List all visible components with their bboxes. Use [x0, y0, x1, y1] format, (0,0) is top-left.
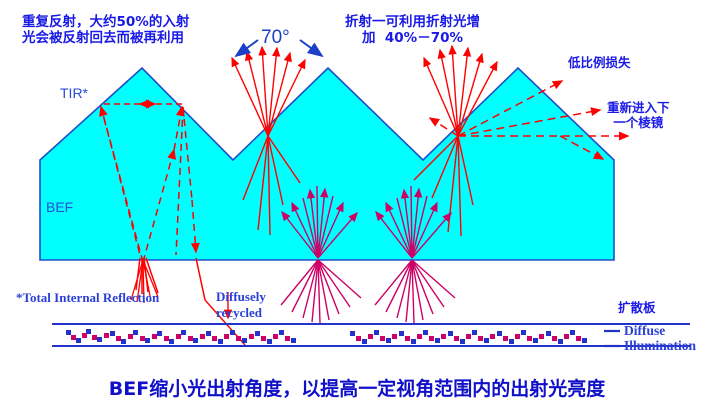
diffuser-plate [52, 324, 690, 346]
angle-label: 70° [261, 26, 290, 49]
diffuser-plate-cn-label: 扩散板 [618, 300, 656, 315]
diffuser-particles [66, 329, 587, 344]
diffusely-recycled-label: Diffusely recycled [216, 289, 266, 321]
diffuse-label: Diffuse [624, 323, 665, 339]
tir-footnote-label: *Total Internal Reflection [16, 290, 159, 306]
bef-prism-film [40, 68, 614, 260]
low-loss-label: 低比例损失 [568, 55, 631, 70]
reenter-prism-label: 重新进入下 一个棱镜 [607, 100, 670, 131]
figure-caption: BEF缩小光出射角度，以提高一定视角范围内的出射光亮度 [0, 374, 714, 401]
refraction-note-label: 折射一可利用折射光增 加 40%－70% [345, 14, 480, 47]
bef-label: BEF [46, 199, 73, 216]
recycle-note-label: 重复反射，大约50%的入射 光会被反射回去而被再利用 [22, 14, 189, 47]
tir-label: TIR* [60, 85, 88, 102]
illumination-label: Illumination [624, 338, 696, 354]
bef-optical-diagram: 重复反射，大约50%的入射 光会被反射回去而被再利用 70° 折射一可利用折射光… [0, 0, 714, 417]
